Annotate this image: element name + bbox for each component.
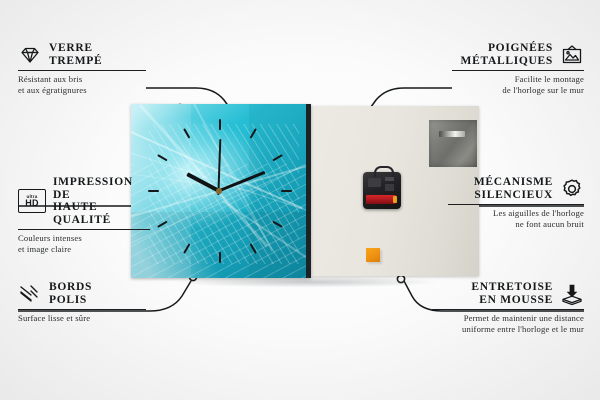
feature-title: ENTRETOISE EN MOUSSE <box>471 281 553 306</box>
arrow-down-pad-icon <box>560 282 584 306</box>
feature-title: VERRE TREMPÉ <box>49 42 102 67</box>
metal-hanger-plate <box>429 120 477 167</box>
feature-description: Les aiguilles de l'horloge ne font aucun… <box>448 208 584 229</box>
feature-heading: BORDS POLIS <box>18 281 146 306</box>
hour-hand <box>186 172 220 192</box>
picture-frame-icon <box>560 43 584 67</box>
polished-edge-icon <box>18 282 42 306</box>
foam-spacer <box>366 248 380 262</box>
mechanism-hanging-loop <box>374 166 394 177</box>
feature-description: Résistant aux bris et aux égratignures <box>18 74 146 95</box>
hour-tick <box>157 154 168 161</box>
feature-heading: MÉCANISME SILENCIEUX <box>448 176 584 201</box>
hour-tick <box>272 154 283 161</box>
gear-icon <box>560 177 584 201</box>
hour-tick <box>183 243 190 254</box>
feature-entretoise-en-mousse: ENTRETOISE EN MOUSSE Permet de maintenir… <box>432 281 584 334</box>
mechanism-detail <box>368 178 381 187</box>
feature-divider <box>18 229 150 230</box>
feature-poignees-metalliques: POIGNÉES MÉTALLIQUES Facilite le montage… <box>452 42 584 95</box>
feature-title: IMPRESSION DE HAUTE QUALITÉ <box>53 176 150 226</box>
feature-heading: VERRE TREMPÉ <box>18 42 146 67</box>
second-hand <box>218 139 221 195</box>
hour-tick <box>249 243 256 254</box>
feature-description: Surface lisse et sûre <box>18 313 146 323</box>
feature-title: POIGNÉES MÉTALLIQUES <box>461 42 553 67</box>
feature-divider <box>18 70 146 71</box>
product-image <box>131 104 479 280</box>
diamond-icon <box>18 43 42 67</box>
clock-front-face <box>131 104 311 278</box>
mechanism-detail <box>385 177 394 181</box>
feature-divider <box>448 204 584 205</box>
feature-verre-trempe: VERRE TREMPÉ Résistant aux bris et aux é… <box>18 42 146 95</box>
hanger-slot <box>439 131 465 137</box>
feature-mecanisme-silencieux: MÉCANISME SILENCIEUX Les aiguilles de l'… <box>448 176 584 229</box>
feature-title: BORDS POLIS <box>49 281 92 306</box>
minute-hand <box>218 171 265 193</box>
hour-tick <box>219 119 221 130</box>
infographic-canvas: VERRE TREMPÉ Résistant aux bris et aux é… <box>0 0 600 400</box>
hour-tick <box>249 128 256 139</box>
feature-heading: POIGNÉES MÉTALLIQUES <box>452 42 584 67</box>
feature-description: Couleurs intenses et image claire <box>18 233 150 254</box>
ultra-hd-badge-icon: ultra HD <box>18 189 46 213</box>
feature-bords-polis: BORDS POLIS Surface lisse et sûre <box>18 281 146 324</box>
mechanism-detail <box>385 184 394 191</box>
hour-tick <box>183 128 190 139</box>
feature-title: MÉCANISME SILENCIEUX <box>474 176 553 201</box>
feature-description: Facilite le montage de l'horloge sur le … <box>452 74 584 95</box>
feature-divider <box>432 309 584 310</box>
clock-center-cap <box>216 188 222 194</box>
clock-mechanism <box>363 172 401 209</box>
clock-dial <box>131 104 306 278</box>
feature-heading: ENTRETOISE EN MOUSSE <box>432 281 584 306</box>
feature-impression-haute-qualite: ultra HD IMPRESSION DE HAUTE QUALITÉ Cou… <box>18 176 150 254</box>
battery-terminal <box>393 196 397 203</box>
feature-divider <box>452 70 584 71</box>
feature-description: Permet de maintenir une distance uniform… <box>432 313 584 334</box>
hour-tick <box>281 190 292 192</box>
hd-label: HD <box>25 199 38 209</box>
hour-tick <box>272 221 283 228</box>
feature-heading: ultra HD IMPRESSION DE HAUTE QUALITÉ <box>18 176 150 226</box>
battery <box>366 195 396 204</box>
feature-divider <box>18 309 146 310</box>
hour-tick <box>219 252 221 263</box>
hour-tick <box>157 221 168 228</box>
